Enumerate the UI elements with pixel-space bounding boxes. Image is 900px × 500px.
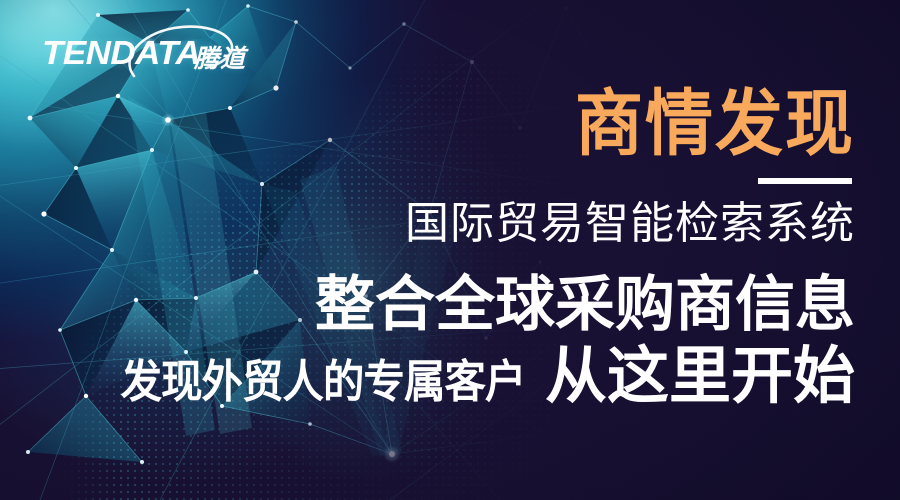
banner-headline-primary: 整合全球采购商信息 [315,273,855,337]
headline-secondary-emphasis: 从这里开始 [545,346,855,408]
title-divider [758,178,852,184]
promo-banner: TENDATA 腾道 商情发现 国际贸易智能检索系统 整合全球采购商信息 发现外… [0,0,900,500]
banner-headline-secondary: 发现外贸人的专属客户 从这里开始 [103,346,855,411]
banner-subtitle: 国际贸易智能检索系统 [405,198,855,250]
banner-copy: 商情发现 国际贸易智能检索系统 整合全球采购商信息 发现外贸人的专属客户 从这里… [95,0,855,500]
banner-title: 商情发现 [575,88,855,160]
headline-secondary-lead: 发现外贸人的专属客户 [121,353,526,411]
